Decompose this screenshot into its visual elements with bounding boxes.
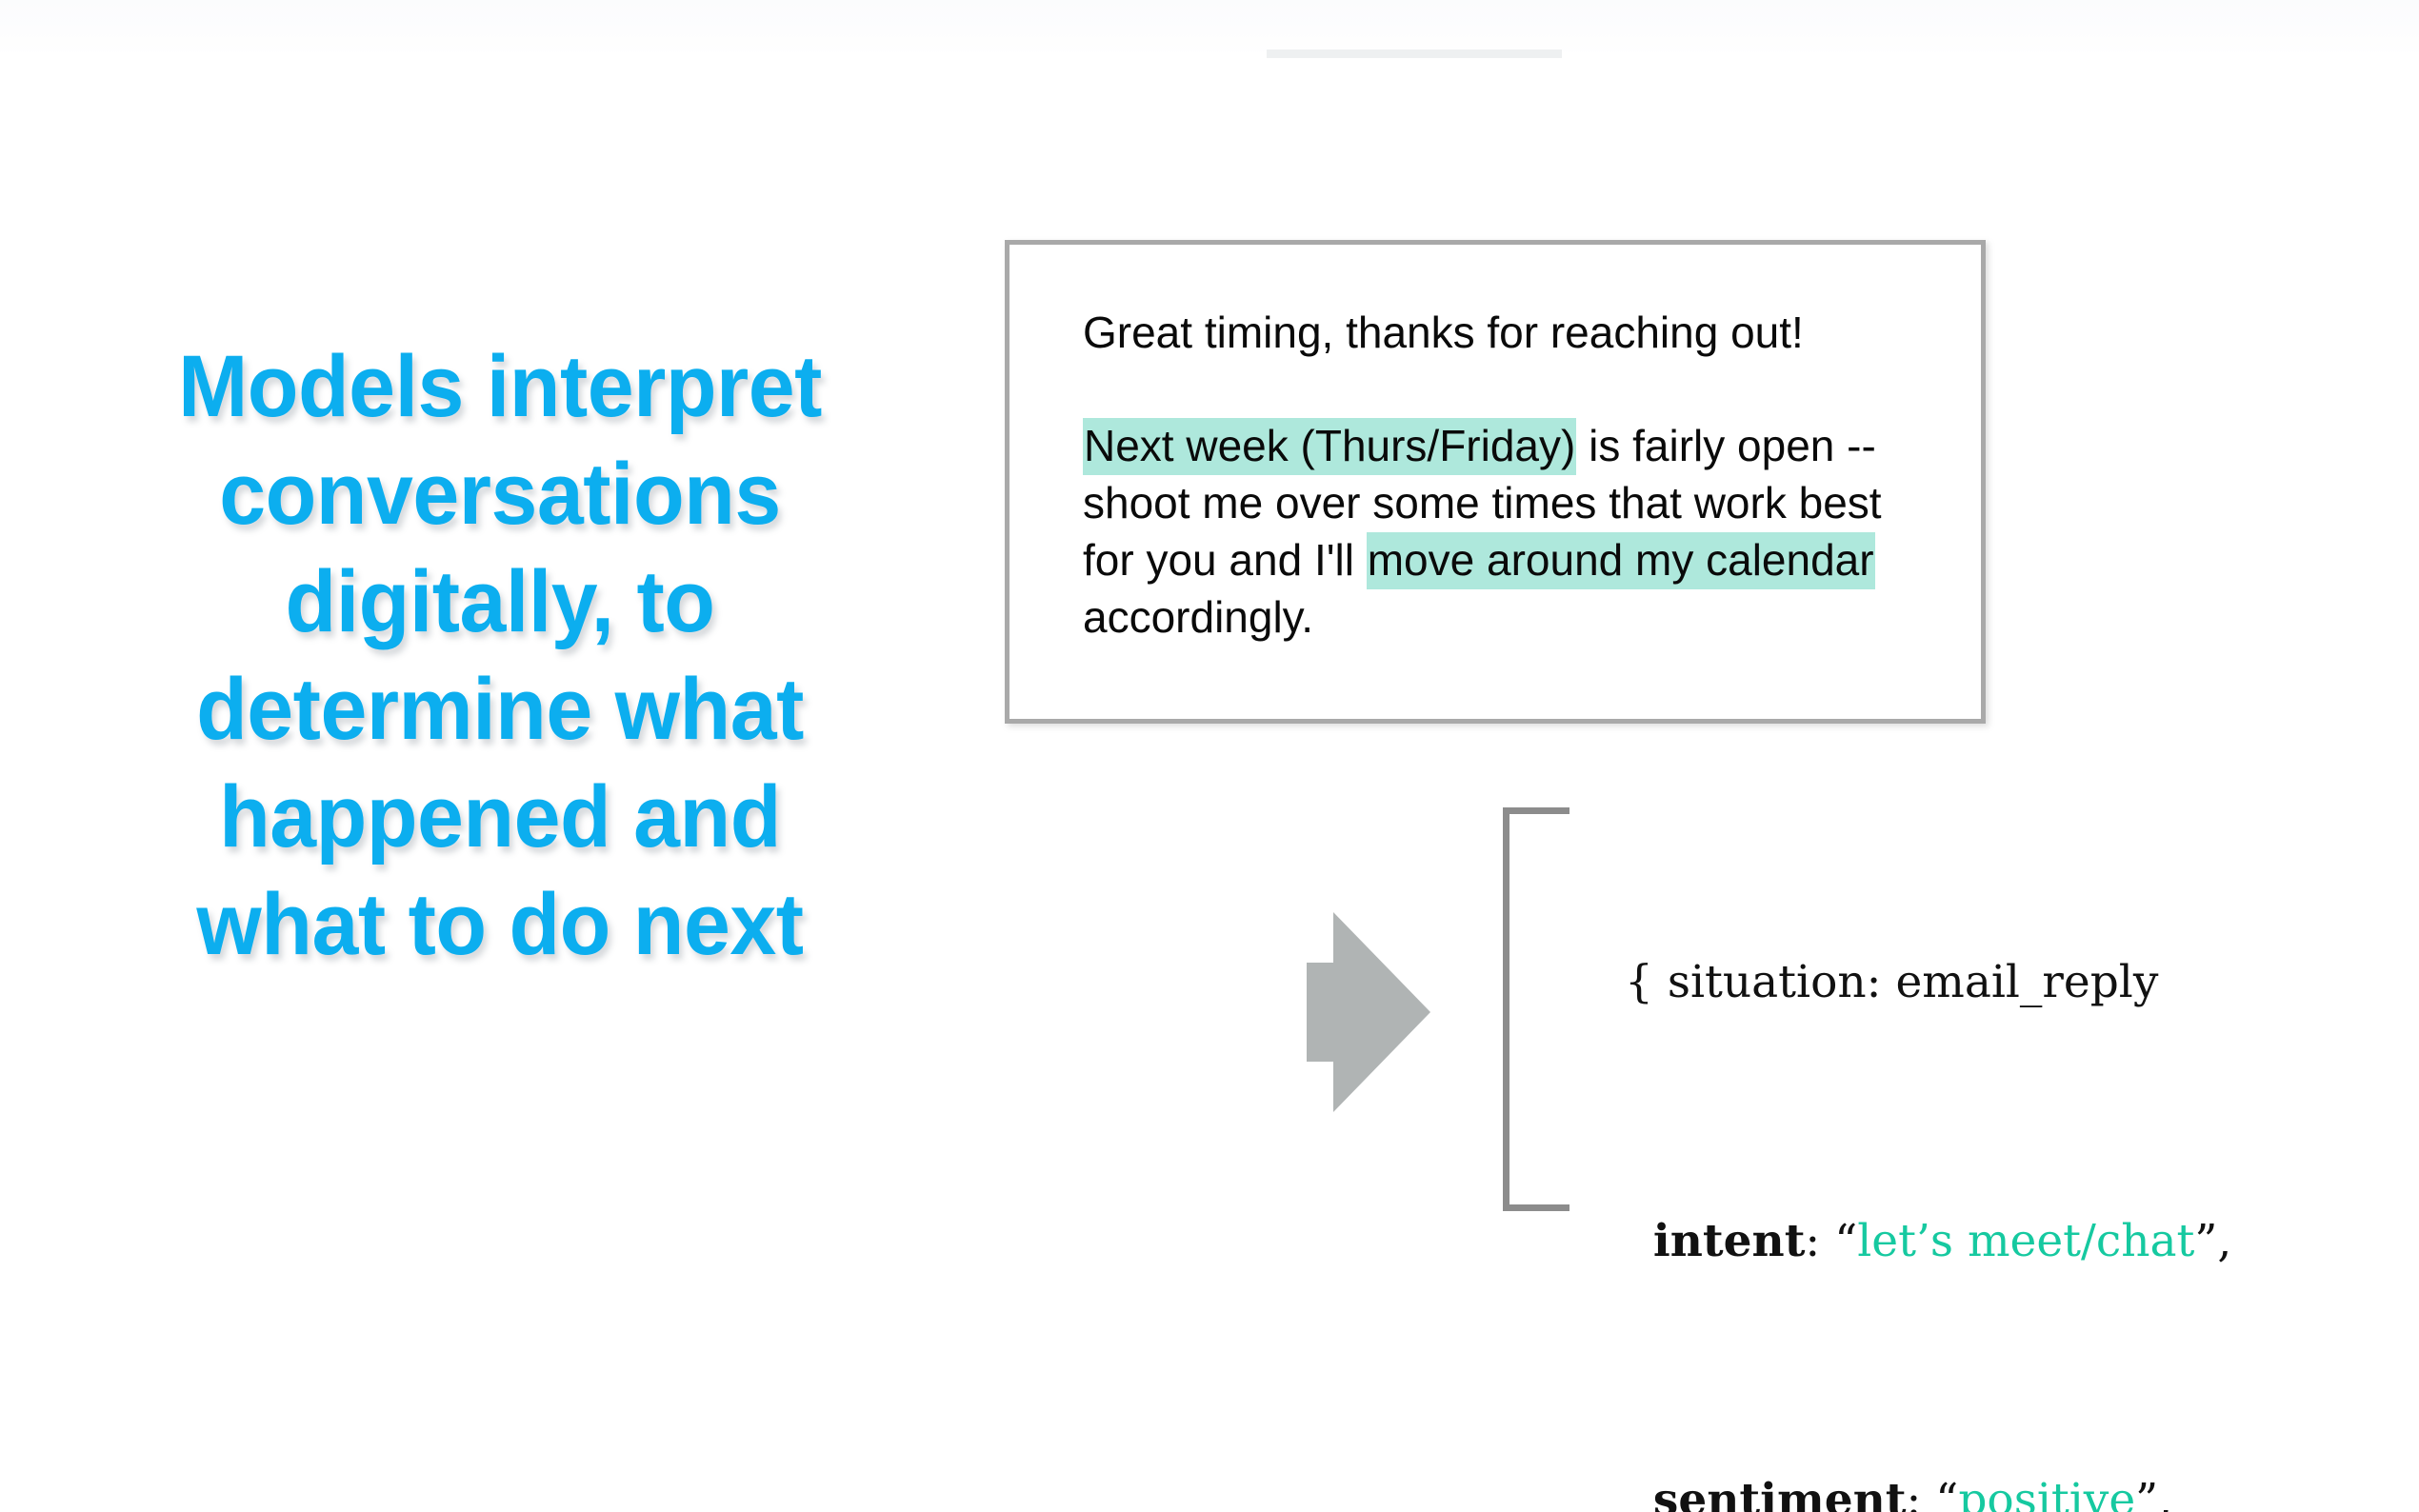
code-line-situation: { situation: email_reply <box>1625 950 2406 1015</box>
email-message-card: Great timing, thanks for reaching out! N… <box>1005 240 1986 724</box>
slide-canvas: Models interpret conversations digitally… <box>0 0 2419 1512</box>
code-value-sentiment: positive <box>1958 1474 2135 1512</box>
code-key-situation: situation <box>1668 956 1867 1008</box>
highlight-date-phrase: Next week (Thurs/Friday) <box>1083 418 1576 475</box>
code-prefix-situation: { <box>1625 956 1668 1008</box>
code-line-intent: intent: “let’s meet/chat”, <box>1625 1209 2406 1274</box>
flow-arrow-icon <box>1307 912 1430 1112</box>
code-bracket-icon <box>1503 807 1569 1211</box>
title-line-6: what to do next <box>77 871 923 979</box>
code-key-intent: intent <box>1653 1215 1806 1267</box>
code-prefix-sentiment <box>1625 1474 1653 1512</box>
highlight-action-phrase: move around my calendar <box>1367 532 1875 589</box>
title-line-1: Models interpret <box>77 333 923 441</box>
email-greeting-line: Great timing, thanks for reaching out! <box>1083 304 1940 361</box>
code-sep-intent: : “ <box>1805 1215 1857 1267</box>
email-message-body: Great timing, thanks for reaching out! N… <box>1083 304 1940 646</box>
email-reply-paragraph: Next week (Thurs/Friday) is fairly open … <box>1083 417 1940 646</box>
title-line-4: determine what <box>77 656 923 764</box>
code-line-sentiment: sentiment: “positive”, <box>1625 1468 2406 1512</box>
code-suffix-intent: ”, <box>2194 1215 2231 1267</box>
code-value-situation: email_reply <box>1895 956 2158 1008</box>
bracket-vertical-stroke <box>1503 807 1509 1211</box>
title-line-2: conversations <box>77 441 923 548</box>
slide-top-edge-chip <box>1267 50 1562 58</box>
code-key-sentiment: sentiment <box>1653 1474 1907 1512</box>
title-line-3: digitally, to <box>77 548 923 656</box>
slide-title: Models interpret conversations digitally… <box>57 333 943 979</box>
email-paragraph-spacer <box>1083 361 1940 417</box>
code-suffix-sentiment: ”, <box>2135 1474 2172 1512</box>
bracket-bottom-arm <box>1503 1204 1569 1211</box>
code-prefix-intent <box>1625 1215 1653 1267</box>
slide-top-edge-band <box>0 0 2419 57</box>
bracket-top-arm <box>1503 807 1569 814</box>
email-text-segment-2: accordingly. <box>1083 592 1313 642</box>
code-value-intent: let’s meet/chat <box>1857 1215 2194 1267</box>
code-sep-sentiment: : “ <box>1907 1474 1959 1512</box>
code-sep-situation: : <box>1867 956 1896 1008</box>
title-line-5: happened and <box>77 764 923 871</box>
model-output-code: { situation: email_reply intent: “let’s … <box>1625 821 2406 1512</box>
